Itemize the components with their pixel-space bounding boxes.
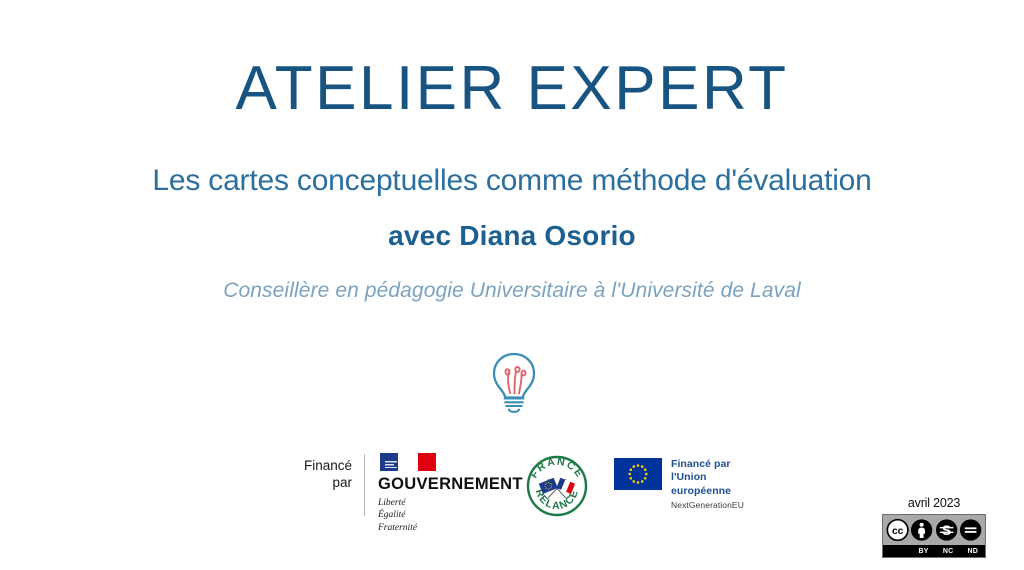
french-flag-icon — [380, 453, 436, 471]
government-logo: Financé par GOUVERNEMENT Liberté Égalité… — [292, 452, 523, 535]
funded-by-line2: par — [292, 475, 352, 492]
noderivatives-icon — [959, 518, 982, 542]
date-label: avril 2023 — [882, 496, 986, 510]
motto-liberte: Liberté — [378, 497, 523, 510]
cc-term-nd: ND — [960, 548, 985, 555]
cc-term-nc: NC — [936, 548, 961, 555]
footer-logos: Financé par GOUVERNEMENT Liberté Égalité… — [292, 452, 742, 534]
page-title: ATELIER EXPERT — [0, 56, 1024, 121]
motto-egalite: Égalité — [378, 509, 523, 522]
licence-block: avril 2023 cc S — [882, 496, 986, 558]
eu-funding-logo: Financé par l'Union européenne NextGener… — [614, 458, 744, 511]
attribution-person-icon — [910, 518, 933, 542]
svg-text:S: S — [942, 523, 951, 538]
eu-funded-line1: Financé par — [671, 458, 744, 471]
slide-root: ATELIER EXPERT Les cartes conceptuelles … — [0, 0, 1024, 570]
eu-flag-icon — [614, 458, 662, 490]
speaker-name: avec Diana Osorio — [0, 220, 1024, 252]
france-relance-logo: FRANCE RELANCE — [525, 454, 589, 518]
eu-funded-line2: l'Union européenne — [671, 471, 744, 498]
government-wordmark: GOUVERNEMENT — [378, 476, 523, 493]
republic-motto: Liberté Égalité Fraternité — [378, 497, 523, 535]
logo-divider — [364, 454, 365, 516]
speaker-role: Conseillère en pédagogie Universitaire à… — [0, 279, 1024, 303]
svg-text:cc: cc — [892, 526, 904, 537]
creative-commons-badge[interactable]: cc S — [882, 514, 986, 558]
funded-by-line1: Financé — [292, 458, 352, 475]
creative-commons-icon: cc — [886, 518, 909, 542]
motto-fraternite: Fraternité — [378, 522, 523, 535]
eu-nextgeneration-label: NextGenerationEU — [671, 500, 744, 511]
lightbulb-icon — [483, 351, 545, 415]
noncommercial-icon: S — [935, 518, 958, 542]
page-subtitle: Les cartes conceptuelles comme méthode d… — [0, 164, 1024, 198]
funded-by-label: Financé par — [292, 452, 352, 492]
cc-term-by: BY — [911, 548, 936, 555]
